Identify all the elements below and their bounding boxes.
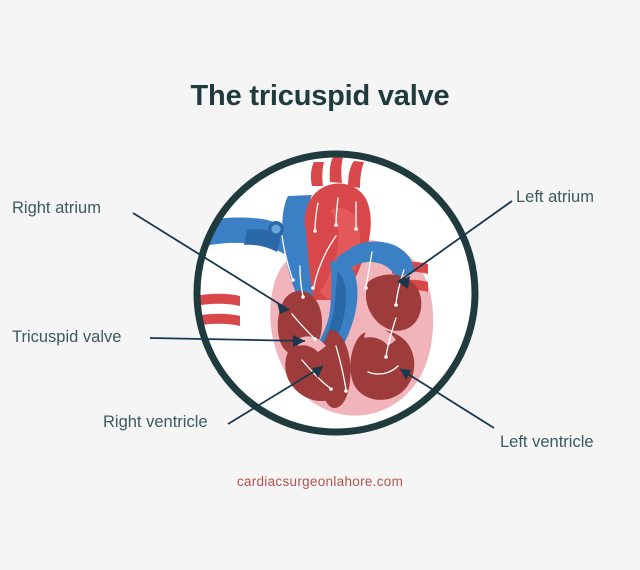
artery-branch-left: [311, 162, 324, 186]
callout-label-left-ventricle: Left ventricle: [500, 433, 594, 452]
site-url-attribution[interactable]: cardiacsurgeonlahore.com: [0, 474, 640, 489]
callout-label-tricuspid-valve: Tricuspid valve: [12, 328, 121, 347]
diagram-canvas: The tricuspid valve: [0, 0, 640, 570]
callout-label-right-atrium: Right atrium: [12, 199, 101, 218]
vein-ring-opening-inner: [272, 225, 281, 234]
callout-label-left-atrium: Left atrium: [516, 188, 594, 207]
artery-branch-mid: [330, 157, 343, 183]
callout-label-right-ventricle: Right ventricle: [103, 413, 208, 432]
